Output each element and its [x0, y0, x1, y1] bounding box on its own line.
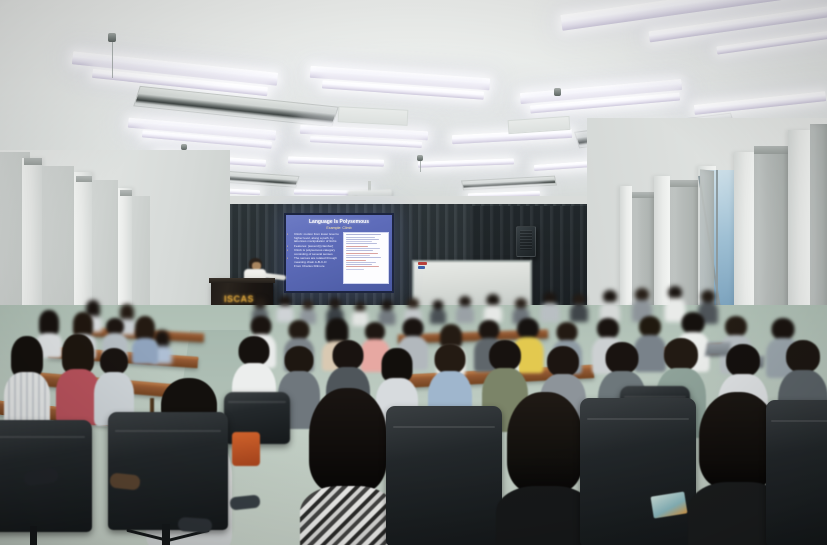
chair-seam: [0, 436, 85, 438]
person-head: [597, 318, 619, 339]
sprinkler-head: [554, 88, 561, 96]
person-hair: [382, 348, 413, 382]
person-head: [517, 318, 539, 339]
sprinkler-head: [417, 155, 423, 161]
person-torso: [430, 309, 446, 324]
audience-member: [600, 290, 620, 320]
person-head: [547, 346, 579, 377]
shoe: [178, 517, 213, 533]
presentation-slide: Language Is Polysemous Example: Climb Cl…: [286, 215, 392, 291]
audience-member: [378, 300, 395, 323]
wall-speaker: [516, 226, 536, 257]
slide-bullet: Climb: motion from lower level to higher…: [290, 233, 340, 244]
window-blind-headrail: [754, 146, 788, 154]
person-head: [100, 348, 128, 375]
sprinkler-head: [108, 33, 116, 42]
sprinkler-drop: [112, 40, 113, 78]
audience-member: [456, 296, 474, 321]
person-head: [403, 318, 424, 338]
chair: [766, 400, 827, 545]
person-head: [489, 340, 521, 371]
person-head: [725, 316, 747, 337]
person-hair: [62, 334, 94, 374]
person-torso: [570, 304, 588, 322]
person-head: [435, 344, 466, 374]
chair-seam: [587, 418, 689, 420]
chair-seam: [115, 430, 221, 432]
audience-member: [132, 316, 158, 360]
person-head: [289, 320, 310, 340]
lecture-hall-photo: Language Is Polysemous Example: Climb Cl…: [0, 0, 827, 545]
chair: [108, 412, 228, 530]
shoe: [109, 472, 140, 490]
window-blind-headrail: [632, 192, 654, 198]
slide-attribution: From Charles Fillmore: [290, 265, 340, 269]
person-head: [557, 322, 578, 342]
whiteboard-marker: [418, 266, 425, 269]
podium-logo: ISCAS: [224, 294, 254, 304]
audience-member: [540, 292, 559, 320]
slide-bullet: The senses are related through meaning c…: [290, 257, 340, 264]
audience-member: [300, 300, 316, 322]
person-head: [664, 338, 698, 371]
chair-seam: [393, 426, 495, 428]
audience-member: [4, 336, 50, 426]
person-head: [239, 336, 270, 366]
chair-seam: [228, 401, 286, 403]
slide-subtitle: Example: Climb: [286, 226, 392, 230]
chair-seam: [771, 420, 827, 422]
audience-member: [430, 300, 446, 322]
audience-member: [94, 348, 134, 422]
slide-sense-table: [343, 232, 389, 284]
projection-screen: Language Is Polysemous Example: Climb Cl…: [284, 213, 394, 293]
chair: [580, 398, 696, 545]
person-head: [606, 342, 639, 374]
person-torso: [300, 486, 396, 545]
audience-member: [352, 302, 368, 324]
person-head: [772, 318, 795, 340]
person-head: [639, 316, 661, 337]
person-head: [251, 316, 272, 336]
person-head: [681, 312, 704, 334]
chair-stem: [30, 526, 37, 545]
slide-bullet: Climb is polysemous category consisting …: [290, 249, 340, 256]
podium-top-surface: [209, 278, 275, 283]
window-blind-headrail: [76, 176, 92, 182]
audience-member: [276, 296, 293, 320]
whiteboard-marker: [418, 262, 427, 265]
person-torso: [132, 338, 158, 364]
slide-bullet-list: Climb: motion from lower level to higher…: [290, 233, 340, 270]
person-torso: [456, 306, 474, 323]
window-blind-headrail: [24, 158, 42, 165]
speaker-grille: [520, 230, 532, 250]
window-blind-headrail: [670, 180, 698, 187]
person-head: [786, 340, 820, 373]
person-hair: [507, 392, 583, 492]
chair: [386, 406, 502, 545]
person-head: [333, 340, 364, 370]
audience-member: [570, 294, 588, 320]
person-head: [726, 344, 760, 377]
slide-title: Language Is Polysemous: [286, 219, 392, 225]
window-blind-headrail: [120, 190, 132, 196]
bag: [232, 432, 260, 466]
person-hair: [309, 388, 387, 492]
person-head: [285, 346, 314, 374]
audience-member: [484, 294, 502, 320]
audience-member: [300, 388, 396, 545]
person-head: [479, 320, 500, 340]
